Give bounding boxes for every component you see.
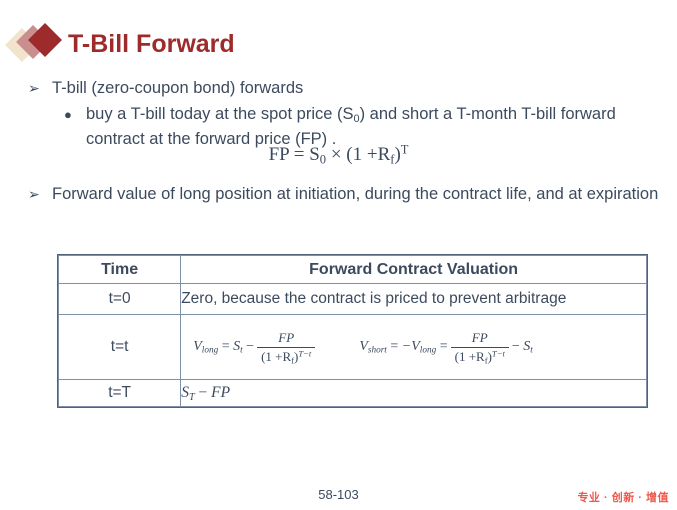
vlong-minus: − (246, 339, 254, 354)
vlong-denominator: (1 +Rf)T−t (257, 348, 315, 365)
bullet-item-2: ➢ Forward value of long position at init… (28, 182, 660, 206)
table-header-row: Time Forward Contract Valuation (59, 256, 647, 284)
vlong-s-sub: t (240, 345, 243, 355)
bullet-item-1-label: T-bill (zero-coupon bond) forwards (52, 76, 658, 100)
vlong-den-exp: T−t (298, 348, 311, 358)
equation-spot-sub: 0 (320, 153, 326, 167)
vlong-den-open: (1 + (261, 349, 282, 364)
page-number: 58-103 (0, 487, 677, 502)
forward-valuation-table: Time Forward Contract Valuation t=0 Zero… (58, 255, 647, 407)
vshort-s-sub: t (530, 345, 533, 355)
vlong-sub: long (202, 345, 218, 355)
slide-title-row: T-Bill Forward (0, 22, 235, 66)
subitem-text-b: ) and short a T-month T-bill (360, 105, 557, 123)
vshort-equals-2: = (440, 339, 448, 354)
vshort-sub: short (368, 345, 387, 355)
equation-rate: R (378, 144, 391, 165)
bullet-group-2: ➢ Forward value of long position at init… (28, 182, 660, 208)
header-time: Time (59, 256, 181, 284)
vshort-numerator: FP (451, 330, 509, 348)
equation-equals: = (294, 144, 305, 165)
vshort-minus: − (512, 339, 520, 354)
arrow-bullet-icon: ➢ (28, 76, 52, 100)
cell-time-tt: t=t (59, 315, 181, 380)
header-valuation: Forward Contract Valuation (181, 256, 647, 284)
vlong-den-r: R (283, 349, 292, 364)
diamond-logo-icon (8, 24, 64, 64)
vshort-neg-v: −V (402, 339, 420, 354)
cell-time-t0: t=0 (59, 284, 181, 315)
vshort-denominator: (1 +Rf)T−t (451, 348, 509, 365)
expiry-minus: − (199, 384, 208, 401)
vlong-fraction: FP(1 +Rf)T−t (257, 330, 315, 365)
cell-valuation-tt: Vlong = St −FP(1 +Rf)T−t Vshort = −Vlong… (181, 315, 647, 380)
vshort-equals-1: = (390, 339, 398, 354)
formula-v-short: Vshort = −Vlong =FP(1 +Rf)T−t− St (359, 339, 533, 354)
cell-time-tT: t=T (59, 380, 181, 407)
vshort-den-r: R (476, 349, 485, 364)
subitem-text-a: buy a T-bill today at the spot price (S (86, 105, 354, 123)
dot-bullet-icon: ● (64, 102, 86, 127)
bullet-list: ➢ T-bill (zero-coupon bond) forwards ● b… (28, 76, 658, 152)
vshort-fraction: FP(1 +Rf)T−t (451, 330, 509, 365)
watermark-slogan: 专业 · 创新 · 增值 (577, 489, 669, 505)
expiry-fp: FP (211, 384, 230, 401)
formula-v-long: Vlong = St −FP(1 +Rf)T−t (193, 339, 318, 354)
vlong-v: V (193, 339, 202, 354)
bullet-item-1: ➢ T-bill (zero-coupon bond) forwards (28, 76, 658, 100)
expiry-s-sub: T (189, 392, 195, 403)
table-row: t=t Vlong = St −FP(1 +Rf)T−t Vshort = −V… (59, 315, 647, 380)
page-title: T-Bill Forward (68, 30, 235, 59)
vlong-numerator: FP (257, 330, 315, 348)
equation-open: (1 + (346, 144, 377, 165)
vshort-neg-v-sub: long (420, 345, 436, 355)
equation-exponent: T (401, 143, 409, 157)
vshort-v: V (359, 339, 368, 354)
bullet-item-2-label: Forward value of long position at initia… (52, 182, 660, 206)
table-row: t=0 Zero, because the contract is priced… (59, 284, 647, 315)
equation-spot: S (309, 144, 320, 165)
vlong-equals: = (222, 339, 230, 354)
cell-valuation-tT: ST − FP (181, 380, 647, 407)
equation-lhs: FP (269, 144, 289, 165)
forward-price-equation: FP = S0 × (1 +Rf)T (0, 144, 677, 166)
arrow-bullet-icon-2: ➢ (28, 182, 52, 206)
cell-valuation-t0: Zero, because the contract is priced to … (181, 284, 647, 315)
vshort-den-open: (1 + (455, 349, 476, 364)
expiry-s: S (181, 384, 189, 401)
table-row: t=T ST − FP (59, 380, 647, 407)
vshort-den-exp: T−t (492, 348, 505, 358)
equation-times-icon: × (331, 144, 342, 165)
